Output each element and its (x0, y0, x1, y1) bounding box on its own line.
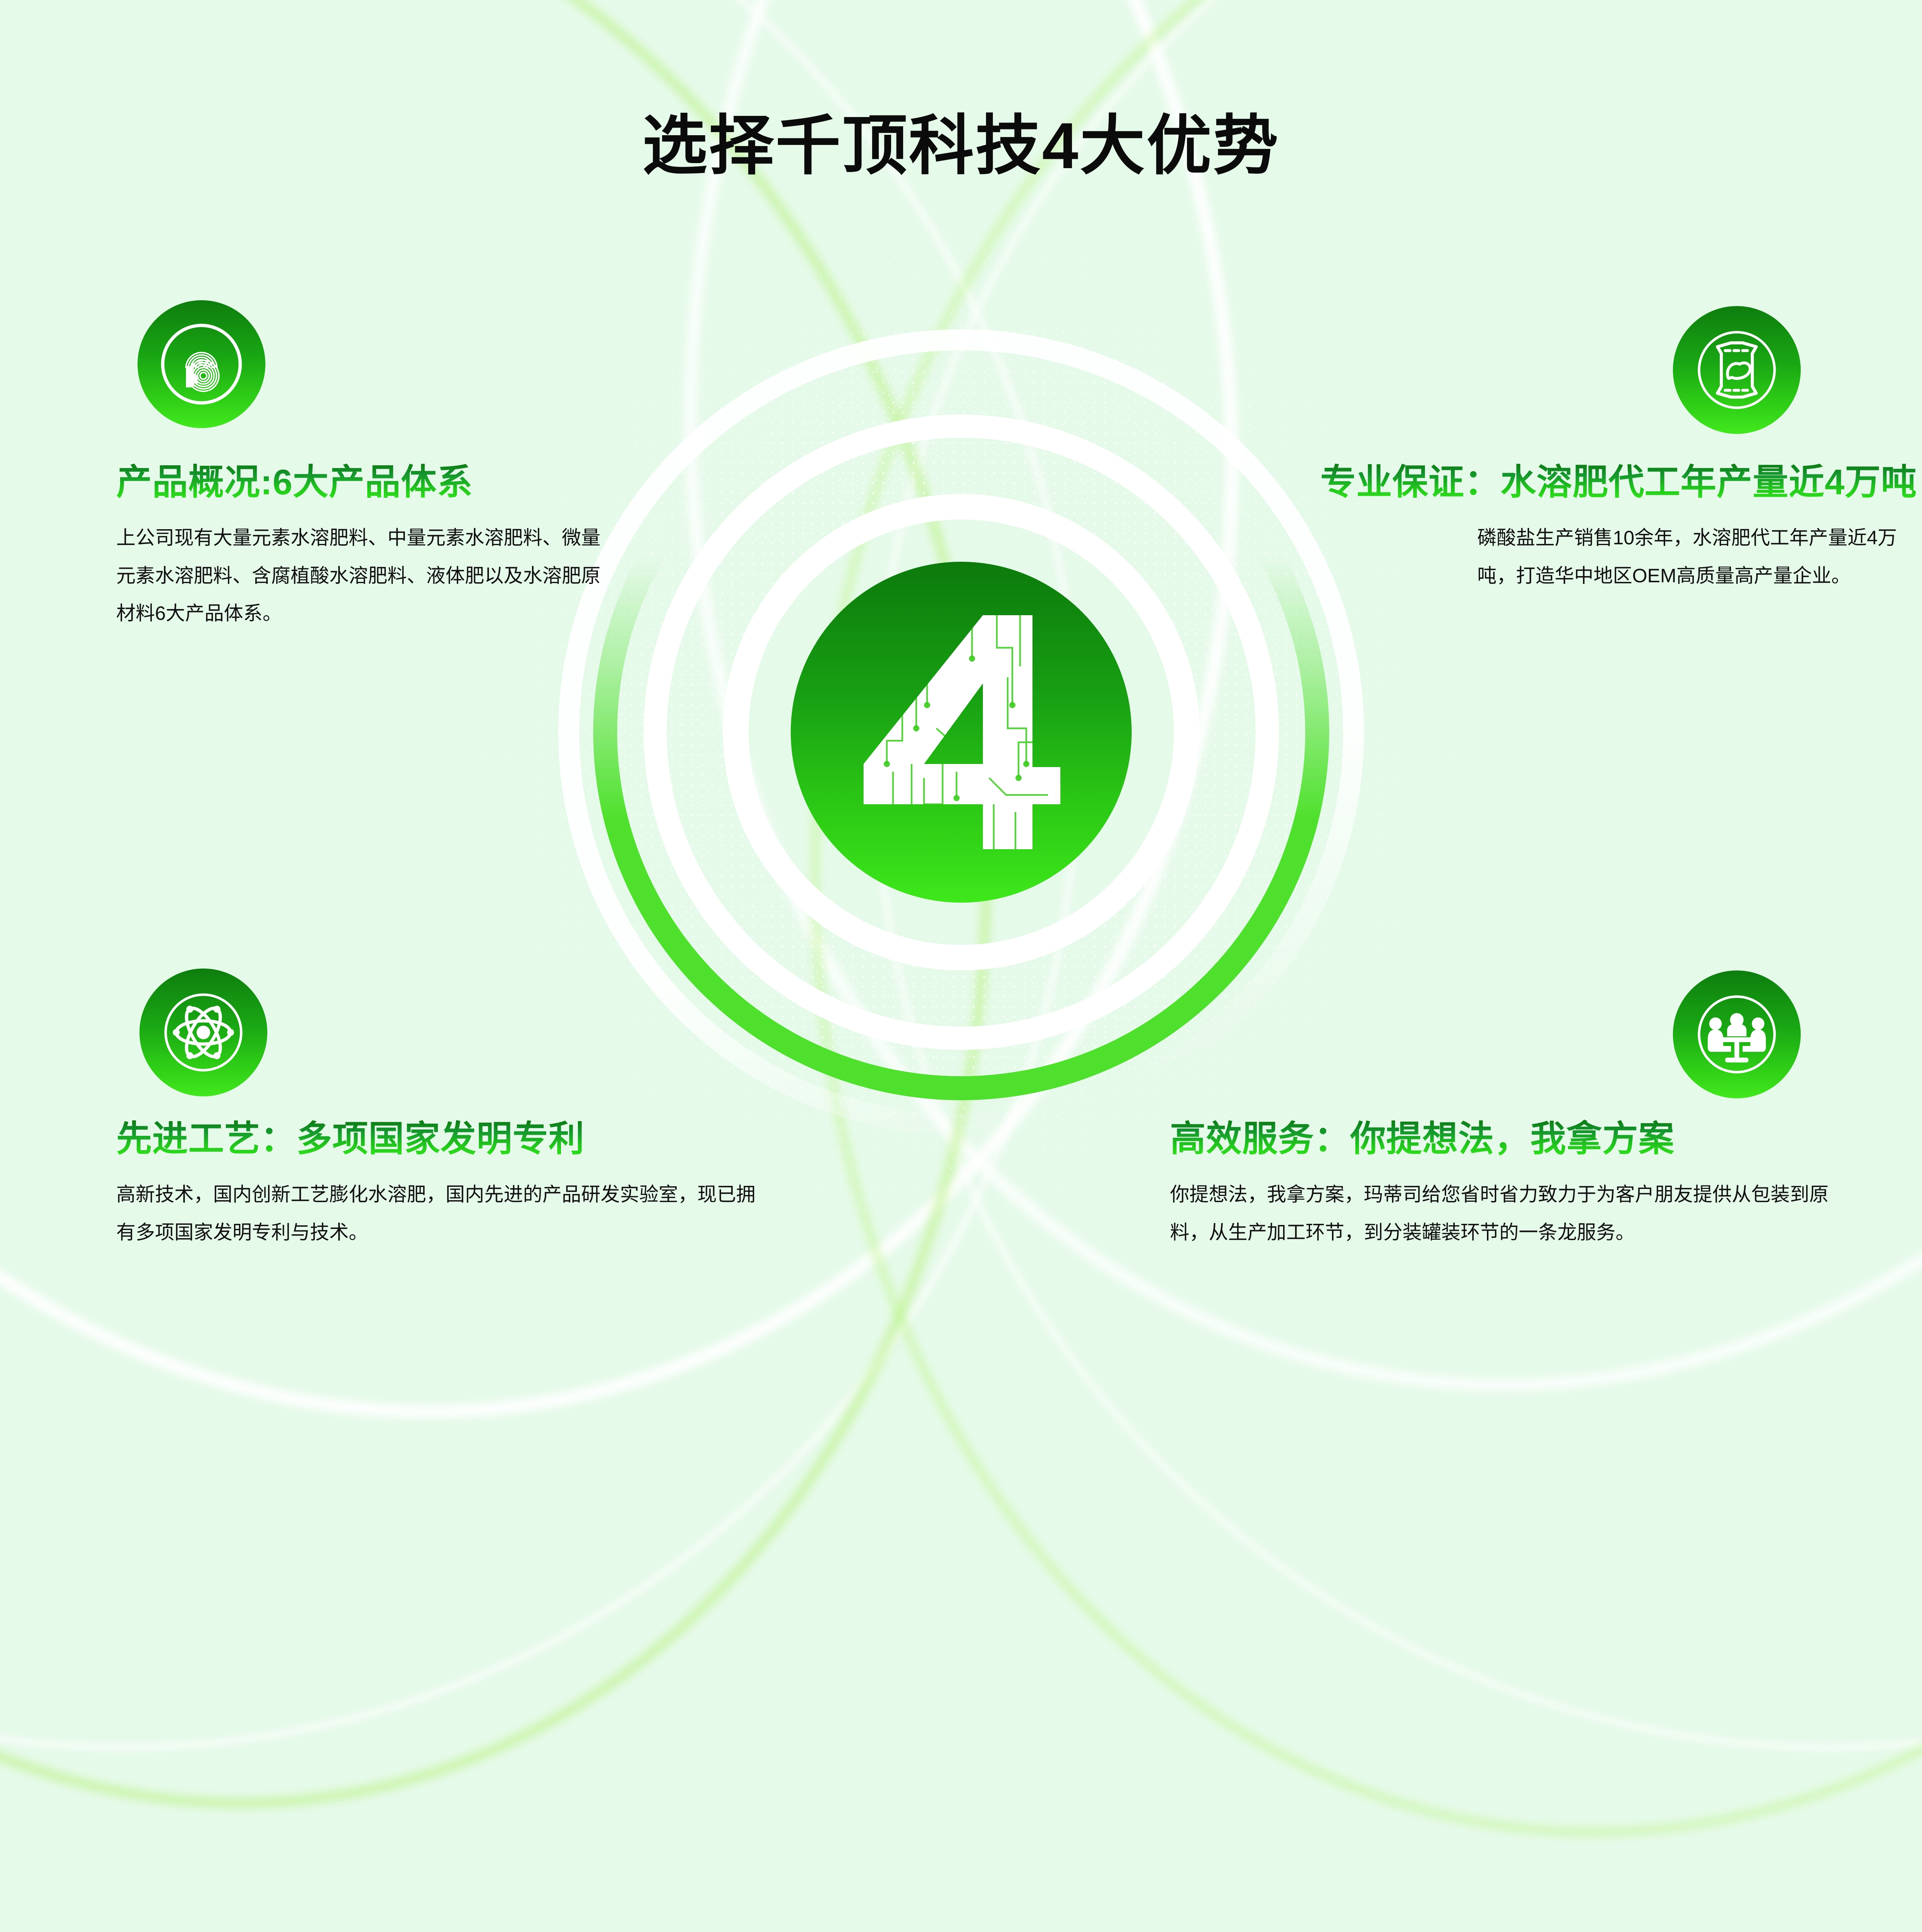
advantage-block-bottom-right: 高效服务：你提想法，我拿方案 你提想法，我拿方案，玛蒂司给您省时省力致力于为客户… (1170, 1120, 1829, 1251)
advantage-icon-badge-bottom-right (1673, 970, 1801, 1098)
fertilizer-bag-icon (1688, 322, 1785, 418)
center-number-medallion (791, 562, 1132, 903)
background-sweep-lime-left (0, 0, 1087, 1887)
advantage-block-top-right: 专业保证：水溶肥代工年产量近4万吨 磷酸盐生产销售10余年，水溶肥代工年产量近4… (1042, 463, 1922, 595)
advantage-heading: 专业保证：水溶肥代工年产量近4万吨 (1042, 463, 1917, 502)
meeting-people-icon (1688, 986, 1785, 1083)
advantage-heading: 高效服务：你提想法，我拿方案 (1170, 1120, 1829, 1159)
background-sweep-white-right (538, 0, 1922, 1517)
advantage-body: 上公司现有大量元素水溶肥料、中量元素水溶肥料、微量元素水溶肥料、含腐植酸水溶肥料… (116, 519, 604, 633)
advantage-heading: 产品概况:6大产品体系 (116, 463, 604, 502)
advantage-icon-badge-top-left (138, 300, 265, 428)
advantage-body: 高新技术，国内创新工艺膨化水溶肥，国内先进的产品研发实验室，现已拥有多项国家发明… (116, 1176, 767, 1251)
advantage-block-top-left: 产品概况:6大产品体系 上公司现有大量元素水溶肥料、中量元素水溶肥料、微量元素水… (116, 463, 604, 633)
background-sweep-white-left (0, 0, 1366, 1529)
background-sweep-lime-right (696, 0, 1922, 1932)
advantage-icon-badge-top-right (1673, 306, 1801, 434)
atom-icon (155, 984, 252, 1081)
number-six-rings-icon (153, 316, 250, 413)
advantage-icon-badge-bottom-left (139, 969, 267, 1096)
page-title: 选择千顶科技4大优势 (0, 93, 1922, 187)
advantage-body: 你提想法，我拿方案，玛蒂司给您省时省力致力于为客户朋友提供从包装到原料，从生产加… (1170, 1176, 1829, 1251)
advantage-body: 磷酸盐生产销售10余年，水溶肥代工年产量近4万吨，打造华中地区OEM高质量高产量… (1477, 519, 1917, 595)
advantage-heading: 先进工艺：多项国家发明专利 (116, 1120, 767, 1159)
circuit-number-four-icon (853, 612, 1070, 852)
advantage-block-bottom-left: 先进工艺：多项国家发明专利 高新技术，国内创新工艺膨化水溶肥，国内先进的产品研发… (116, 1120, 767, 1251)
